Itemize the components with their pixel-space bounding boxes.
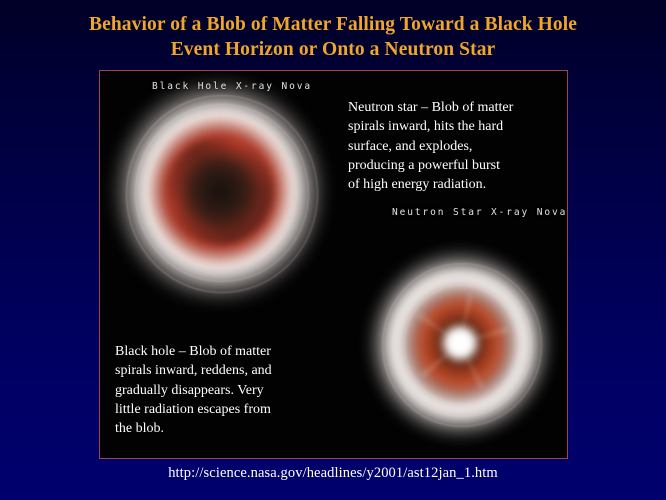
black-hole-caption-line-3: gradually disappears. Very [115, 381, 320, 400]
source-url[interactable]: http://science.nasa.gov/headlines/y2001/… [0, 465, 666, 482]
page-title: Behavior of a Blob of Matter Falling Tow… [0, 12, 666, 62]
black-hole-caption-line-1: Black hole – Blob of matter [115, 342, 320, 361]
page-title-line-1: Behavior of a Blob of Matter Falling Tow… [0, 12, 666, 37]
neutron-star-caption-line-5: of high energy radiation. [348, 175, 558, 194]
illustration-canvas: Black Hole X-ray Nova Neutron Star X-ray… [100, 71, 567, 458]
black-hole-caption-line-4: little radiation escapes from [115, 400, 320, 419]
slide-canvas: Behavior of a Blob of Matter Falling Tow… [0, 0, 666, 500]
neutron-star-image-label: Neutron Star X-ray Nova [392, 207, 567, 218]
neutron-star-caption: Neutron star – Blob of matter spirals in… [348, 98, 558, 194]
neutron-star-caption-line-2: spirals inward, hits the hard [348, 117, 558, 136]
black-hole-caption-line-2: spirals inward, reddens, and [115, 361, 320, 380]
neutron-star-caption-line-3: surface, and explodes, [348, 137, 558, 156]
black-hole-image-label: Black Hole X-ray Nova [152, 81, 312, 92]
neutron-star-ring-inner [404, 285, 520, 405]
black-hole-caption: Black hole – Blob of matter spirals inwa… [115, 342, 320, 438]
black-hole-caption-line-5: the blob. [115, 419, 320, 438]
neutron-star-caption-line-1: Neutron star – Blob of matter [348, 98, 558, 117]
illustration-frame: Black Hole X-ray Nova Neutron Star X-ray… [99, 70, 568, 459]
page-title-line-2: Event Horizon or Onto a Neutron Star [0, 37, 666, 62]
black-hole-ring-inner [147, 115, 297, 269]
neutron-star-caption-line-4: producing a powerful burst [348, 156, 558, 175]
